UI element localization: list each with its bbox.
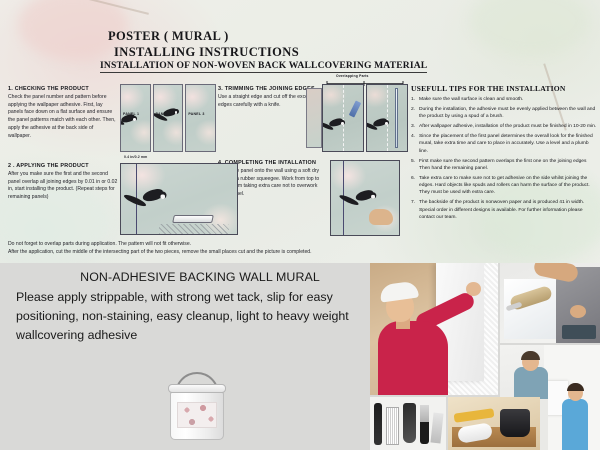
tip-text: First make sure the second pattern overl… bbox=[419, 158, 597, 173]
tip-text: During the installation, the adhesive mu… bbox=[419, 106, 597, 121]
panel-card-1: PANEL 1 bbox=[120, 84, 151, 152]
hand-smoothing-illustration bbox=[369, 209, 393, 225]
knife-tool-icon bbox=[349, 100, 361, 117]
panel-edge-line bbox=[343, 161, 344, 235]
overlap-card-left bbox=[322, 84, 364, 152]
tip-text: After wallpaper adhesive, installation o… bbox=[419, 123, 597, 130]
tip-number: 7. bbox=[411, 199, 419, 221]
step-2-applying-the-product: 2 . APPLYING THE PRODUCT After you make … bbox=[8, 163, 118, 202]
wall-hatching bbox=[159, 224, 229, 234]
branch-decoration-top bbox=[61, 0, 149, 15]
step-1-heading: 1. CHECKING THE PRODUCT bbox=[8, 86, 116, 92]
yellow-tool bbox=[454, 408, 495, 422]
tip-text: Take extra care to make sure not to get … bbox=[419, 175, 597, 197]
diagram-side-strip bbox=[306, 88, 322, 148]
page-title: POSTER ( MURAL ) INSTALLING INSTRUCTIONS bbox=[108, 29, 299, 60]
instruction-panel: POSTER ( MURAL ) INSTALLING INSTRUCTIONS… bbox=[0, 0, 600, 263]
black-bucket bbox=[500, 409, 530, 437]
photo-woman-applying-wallpaper bbox=[370, 263, 498, 395]
promo-text-block: NON-ADHESIVE BACKING WALL MURAL Please a… bbox=[16, 270, 366, 345]
overlap-card-right bbox=[366, 84, 408, 152]
paint-tray bbox=[562, 325, 596, 339]
tips-title: USEFULL TIPS FOR THE INSTALLATION bbox=[411, 84, 597, 93]
straight-edge-ruler-icon bbox=[395, 88, 398, 148]
man-shirt bbox=[514, 367, 548, 399]
bucket-label bbox=[177, 402, 217, 428]
title-line-2: INSTALLING INSTRUCTIONS bbox=[108, 45, 299, 60]
page-subtitle: INSTALLATION OF NON-WOVEN BACK WALLCOVER… bbox=[100, 60, 427, 73]
worker-hand bbox=[570, 305, 586, 318]
tip-item: 6. Take extra care to make sure not to g… bbox=[411, 175, 597, 197]
tip-text: Make sure the wall surface is clean and … bbox=[419, 96, 597, 103]
tip-number: 3. bbox=[411, 123, 419, 130]
photo-wallpaper-tools bbox=[370, 397, 446, 450]
footnotes: Do not forget to overlap parts during ap… bbox=[8, 240, 428, 257]
useful-tips-section: USEFULL TIPS FOR THE INSTALLATION 1. Mak… bbox=[411, 84, 597, 224]
woman-cap bbox=[379, 280, 419, 302]
overlap-parts-label: Overlapping Parts bbox=[336, 74, 369, 78]
man-hair bbox=[521, 351, 540, 360]
step-1-body: Check the panel number and pattern befor… bbox=[8, 94, 116, 140]
footnote-1: Do not forget to overlap parts during ap… bbox=[8, 240, 428, 248]
cut-line-dashed bbox=[387, 85, 388, 151]
panel-card-2: PANEL 2 bbox=[153, 84, 184, 152]
step-2-heading: 2 . APPLYING THE PRODUCT bbox=[8, 163, 118, 169]
tip-number: 5. bbox=[411, 158, 419, 173]
tip-item: 7. The backside of the product is nonwov… bbox=[411, 199, 597, 221]
tip-number: 1. bbox=[411, 96, 419, 103]
cut-line-dashed bbox=[343, 85, 344, 151]
brush-tool-icon bbox=[374, 403, 382, 445]
tip-text: Since the placement of the first panel d… bbox=[419, 133, 597, 155]
smoothing-blade-icon bbox=[430, 413, 443, 444]
diagram-tall-panel bbox=[330, 160, 400, 236]
tip-text: The backside of the product is nonwoven … bbox=[419, 199, 597, 221]
panel-label-2: PANEL 2 bbox=[156, 112, 172, 116]
photo-hand-rolling-wallpaper bbox=[500, 263, 600, 343]
promo-body: Please apply strippable, with strong wet… bbox=[16, 288, 366, 345]
panel-measure-label: 0.4 in/0.2 mm bbox=[124, 155, 147, 159]
seam-comb-tool-icon bbox=[386, 407, 399, 445]
photo-paste-table-with-tools bbox=[448, 397, 540, 450]
tip-item: 1. Make sure the wall surface is clean a… bbox=[411, 96, 597, 103]
tip-number: 6. bbox=[411, 175, 419, 197]
step-2-body: After you make sure the first and the se… bbox=[8, 171, 118, 202]
squeegee-tool-icon bbox=[172, 215, 214, 223]
panel-label-1: PANEL 1 bbox=[123, 112, 139, 116]
child-body bbox=[562, 399, 588, 450]
tip-number: 4. bbox=[411, 133, 419, 155]
diagram-three-panels: PANEL 1 PANEL 2 PANEL 3 bbox=[120, 84, 216, 152]
bottom-section: NON-ADHESIVE BACKING WALL MURAL Please a… bbox=[0, 263, 600, 450]
adhesive-bucket-image bbox=[168, 378, 226, 440]
putty-knife-handle-icon bbox=[420, 422, 429, 444]
title-line-1: POSTER ( MURAL ) bbox=[108, 29, 299, 44]
tip-item: 4. Since the placement of the first pane… bbox=[411, 133, 597, 155]
child-hair bbox=[567, 383, 584, 391]
bucket-lid bbox=[168, 384, 226, 393]
tip-number: 2. bbox=[411, 106, 419, 121]
footnote-2: After the application, cut the middle of… bbox=[8, 248, 428, 256]
putty-knife-blade-icon bbox=[420, 405, 429, 423]
woman-hand bbox=[466, 282, 481, 296]
scraper-tool-icon bbox=[403, 403, 416, 443]
floral-wash-top-right bbox=[470, 0, 590, 56]
diagram-overlapping-panels bbox=[322, 84, 408, 152]
tip-item: 5. First make sure the second pattern ov… bbox=[411, 158, 597, 173]
step-1-checking-the-product: 1. CHECKING THE PRODUCT Check the panel … bbox=[8, 86, 116, 140]
panel-card-3: PANEL 3 bbox=[185, 84, 216, 152]
tip-item: 2. During the installation, the adhesive… bbox=[411, 106, 597, 121]
woman-torso bbox=[378, 321, 448, 395]
panel-edge-line bbox=[136, 164, 137, 234]
panel-label-3: PANEL 3 bbox=[188, 112, 204, 116]
tip-item: 3. After wallpaper adhesive, installatio… bbox=[411, 123, 597, 130]
promo-title: NON-ADHESIVE BACKING WALL MURAL bbox=[16, 270, 366, 284]
photo-grid bbox=[370, 263, 600, 450]
diagram-large-panel bbox=[120, 163, 238, 235]
